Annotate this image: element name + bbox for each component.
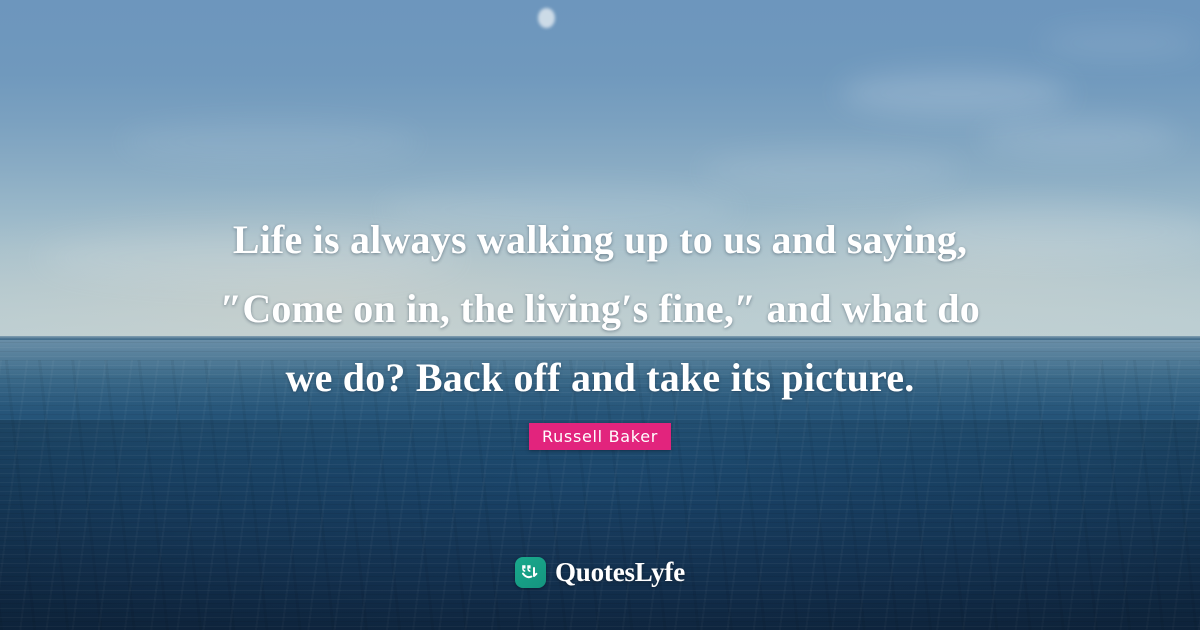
quote-check-icon: [515, 557, 546, 588]
card-content: Life is always walking up to us and sayi…: [0, 0, 1200, 630]
quoteslyfe-logo[interactable]: QuotesLyfe: [515, 557, 685, 588]
quote-line-2: ″Come on in, the living′s fine,″ and wha…: [0, 274, 1200, 343]
quote-card: Life is always walking up to us and sayi…: [0, 0, 1200, 630]
quote-line-3: we do? Back off and take its picture.: [0, 343, 1200, 412]
quoteslyfe-wordmark: QuotesLyfe: [555, 557, 685, 588]
author-badge[interactable]: Russell Baker: [529, 423, 671, 450]
quote-text: Life is always walking up to us and sayi…: [0, 205, 1200, 412]
quote-line-1: Life is always walking up to us and sayi…: [0, 205, 1200, 274]
